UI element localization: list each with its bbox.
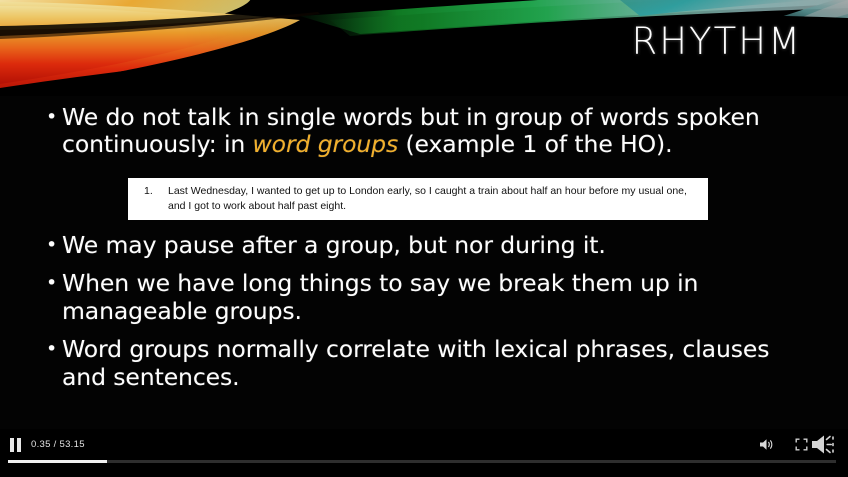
example-box: 1. Last Wednesday, I wanted to get up to… bbox=[128, 178, 708, 220]
player-control-bar: 0.35 / 53.15 bbox=[0, 429, 848, 477]
player-control-row: 0.35 / 53.15 bbox=[0, 429, 848, 460]
pause-button[interactable] bbox=[8, 438, 24, 452]
bullet-item-3: • When we have long things to say we bre… bbox=[0, 270, 848, 325]
bullet-text-1: We do not talk in single words but in gr… bbox=[62, 104, 808, 159]
bullet-marker: • bbox=[46, 271, 57, 296]
progress-bar-fill bbox=[8, 460, 107, 463]
time-display: 0.35 / 53.15 bbox=[31, 438, 85, 451]
bullet-item-4: • Word groups normally correlate with le… bbox=[0, 336, 848, 391]
example-number: 1. bbox=[144, 184, 168, 199]
video-player: RHYTHM • We do not talk in single words … bbox=[0, 0, 848, 477]
example-text: Last Wednesday, I wanted to get up to Lo… bbox=[168, 184, 694, 214]
speaker-wave-icon[interactable] bbox=[810, 434, 840, 455]
pause-icon-bar-right bbox=[17, 438, 21, 452]
bullet-list-top: • We do not talk in single words but in … bbox=[0, 104, 848, 170]
bullet-text-4: Word groups normally correlate with lexi… bbox=[62, 336, 808, 391]
progress-bar-track[interactable] bbox=[8, 460, 836, 463]
bullet-marker: • bbox=[46, 105, 57, 130]
bullet-item-2: • We may pause after a group, but nor du… bbox=[0, 232, 848, 259]
pause-icon-bar-left bbox=[10, 438, 14, 452]
expand-arrows-icon[interactable] bbox=[795, 438, 808, 451]
speaker-icon[interactable] bbox=[758, 437, 774, 452]
bullet-marker: • bbox=[46, 233, 57, 258]
bullet-text-3: When we have long things to say we break… bbox=[62, 270, 808, 325]
bullet-marker: • bbox=[46, 337, 57, 362]
bullet-item-1: • We do not talk in single words but in … bbox=[0, 104, 848, 159]
bullet-text-2: We may pause after a group, but nor duri… bbox=[62, 232, 606, 259]
page-title: RHYTHM bbox=[632, 20, 802, 63]
slide-canvas: RHYTHM • We do not talk in single words … bbox=[0, 0, 848, 477]
bullet-text-1-highlight: word groups bbox=[253, 130, 399, 158]
bullet-list-lower: • We may pause after a group, but nor du… bbox=[0, 232, 848, 402]
bullet-text-1-post: (example 1 of the HO). bbox=[398, 130, 672, 158]
